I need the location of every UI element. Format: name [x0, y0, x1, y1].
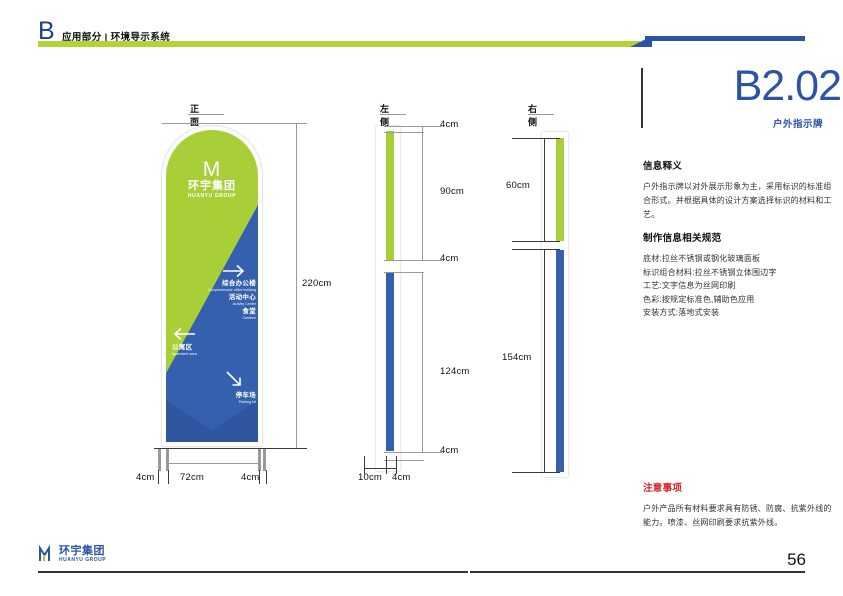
destination-office-cn: 综合办公楼 [184, 280, 256, 288]
spec-line-process: 工艺:文字信息为丝网印刷 [643, 279, 839, 293]
destination-activity-center-en: Activity Center [184, 302, 256, 307]
destination-canteen-en: Canteen [184, 316, 256, 321]
left-dim-bottom-gap: 4cm [440, 445, 459, 456]
front-left-foot-dimension: 4cm [136, 472, 155, 483]
footer-m-mark-icon [38, 545, 57, 564]
spec-line-material: 标识组合材料:拉丝不锈钢立体围边字 [643, 266, 839, 280]
destination-apartments-en: Apartment area [172, 352, 244, 357]
front-leg-right [258, 449, 261, 471]
right-dim-green-length: 60cm [506, 180, 530, 191]
left-dim-line-bot [384, 452, 442, 453]
left-dim-offset: 10cm [358, 472, 382, 483]
left-dim-line-top [384, 126, 442, 127]
right-dim-vert-2 [544, 250, 545, 472]
destination-parking: 停车场 Parking lot [184, 392, 256, 405]
left-dim-line-mid2 [384, 272, 424, 273]
spec-section-notice-body: 户外产品所有材料要求具有防锈、防腐、抗紫外线的能力。喷漆、丝网印刷要求抗紫外线。 [643, 502, 839, 530]
page-header: B 应用部分 | 环境导示系统 [0, 0, 843, 50]
destination-canteen-cn: 食堂 [184, 308, 256, 316]
destination-activity-center-cn: 活动中心 [184, 294, 256, 302]
destination-activity-center: 活动中心 Activity Center [184, 294, 256, 307]
left-dim-blue-length: 124cm [440, 366, 470, 377]
spec-section-production: 制作信息相关规范 底材:拉丝不锈钢或钢化玻璃面板 标识组合材料:拉丝不锈钢立体围… [643, 230, 839, 320]
right-dim-line-mid2 [512, 249, 560, 250]
right-dim-line-bot [512, 472, 560, 473]
left-view-label-underline [380, 114, 406, 115]
arrow-right-icon [222, 263, 246, 279]
right-view-post-outline [542, 132, 568, 477]
spec-line-substrate: 底材:拉丝不锈钢或钢化玻璃面板 [643, 252, 839, 266]
header-rule-green [38, 41, 640, 47]
arrow-left-icon [172, 326, 196, 342]
right-view-blue-bar [556, 250, 564, 472]
spec-section-definition: 信息释义 户外指示牌以对外展示形象为主，采用标识的标准组合形式。并根据具体的设计… [643, 158, 839, 222]
spec-section-definition-heading: 信息释义 [643, 158, 839, 172]
logo-chinese-name: 环宇集团 [162, 180, 262, 193]
front-height-dimension: 220cm [302, 278, 332, 289]
logo-english-name: HUANYU GROUP [162, 193, 262, 200]
left-dim-line-mid [384, 260, 442, 261]
footer-logo-en: HUANYU GROUP [59, 557, 106, 564]
spec-section-notice: 注意事项 户外产品所有材料要求具有防锈、防腐、抗紫外线的能力。喷漆、丝网印刷要求… [643, 480, 839, 530]
left-dim-top-gap: 4cm [440, 119, 459, 130]
footer-rule-left [38, 571, 468, 573]
front-width-ext-left [168, 470, 169, 484]
front-sign-body: M 环宇集团 HUANYU GROUP 综合办公楼 Comprehensive … [162, 126, 262, 446]
front-foot-right-outer [263, 449, 266, 471]
spec-line-color: 色彩:按规定标准色,辅助色应用 [643, 293, 839, 307]
spec-panel: B2.02 户外指示牌 信息释义 户外指示牌以对外展示形象为主，采用标识的标准组… [641, 58, 841, 538]
spec-section-definition-body: 户外指示牌以对外展示形象为主，采用标识的标准组合形式。并根据具体的设计方案选择标… [643, 180, 839, 222]
left-dim-mid-gap: 4cm [440, 253, 459, 264]
left-dim-vert-2 [422, 273, 423, 453]
front-leg-left [166, 449, 169, 471]
header-rule-blue [645, 36, 805, 41]
left-view-blue-bar [386, 273, 394, 451]
left-dim-thickness: 4cm [392, 472, 411, 483]
page-number: 56 [770, 550, 806, 570]
left-dim-line-bot2 [384, 460, 424, 461]
left-view-label: 左侧 [380, 102, 389, 128]
destination-parking-en: Parking lot [184, 400, 256, 405]
right-dim-line-top [512, 138, 560, 139]
spec-code-subtitle: 户外指示牌 [641, 116, 823, 130]
front-foot-ext-left [158, 470, 159, 484]
right-view-label-underline [528, 114, 554, 115]
left-dim-green-length: 90cm [440, 186, 464, 197]
right-dim-blue-length: 154cm [502, 352, 532, 363]
left-dim-line-top2 [384, 132, 424, 133]
front-view-label: 正面 [190, 102, 199, 128]
page-canvas: B 应用部分 | 环境导示系统 正面 M 环宇集团 HUANYU GROUP [0, 0, 843, 596]
arrow-down-right-icon [224, 369, 244, 389]
front-top-dimension-line [162, 123, 307, 124]
right-view-label: 右侧 [528, 102, 537, 128]
right-dim-line-mid [512, 241, 560, 242]
front-view-label-underline [188, 114, 224, 115]
destination-apartments: 公寓区 Apartment area [172, 344, 244, 357]
spec-line-installation: 安装方式:落地式安装 [643, 306, 839, 320]
page-footer: 环宇集团 HUANYU GROUP 56 [0, 538, 843, 596]
left-offset-dim-line [364, 468, 397, 469]
footer-logo: 环宇集团 HUANYU GROUP [38, 545, 106, 564]
front-foot-ext-right [266, 470, 267, 484]
footer-rule-right [470, 571, 805, 573]
destination-parking-cn: 停车场 [184, 392, 256, 400]
front-height-dimension-line [296, 123, 297, 449]
front-width-dimension: 72cm [180, 472, 204, 483]
front-foot-left-outer [158, 449, 161, 471]
spec-code: B2.02 [659, 62, 841, 110]
destination-office: 综合办公楼 Comprehensive office building [184, 280, 256, 293]
left-offset-ext-2 [386, 456, 387, 474]
left-dim-vert-1 [422, 126, 423, 261]
destination-canteen: 食堂 Canteen [184, 308, 256, 321]
front-bottom-dimension-line [154, 448, 307, 449]
spec-section-production-heading: 制作信息相关规范 [643, 230, 839, 244]
footer-logo-cn: 环宇集团 [59, 545, 106, 557]
logo-m-mark: M [162, 160, 262, 180]
front-right-foot-dimension: 4cm [241, 472, 260, 483]
left-view-green-bar [386, 131, 394, 260]
right-dim-vert-1 [544, 138, 545, 242]
destination-apartments-cn: 公寓区 [172, 344, 244, 352]
front-base-line [166, 463, 261, 464]
footer-logo-text: 环宇集团 HUANYU GROUP [59, 545, 106, 564]
destination-office-en: Comprehensive office building [184, 288, 256, 293]
front-logo: M 环宇集团 HUANYU GROUP [162, 160, 262, 200]
spec-section-notice-heading: 注意事项 [643, 480, 839, 494]
right-view-green-bar [556, 138, 564, 241]
